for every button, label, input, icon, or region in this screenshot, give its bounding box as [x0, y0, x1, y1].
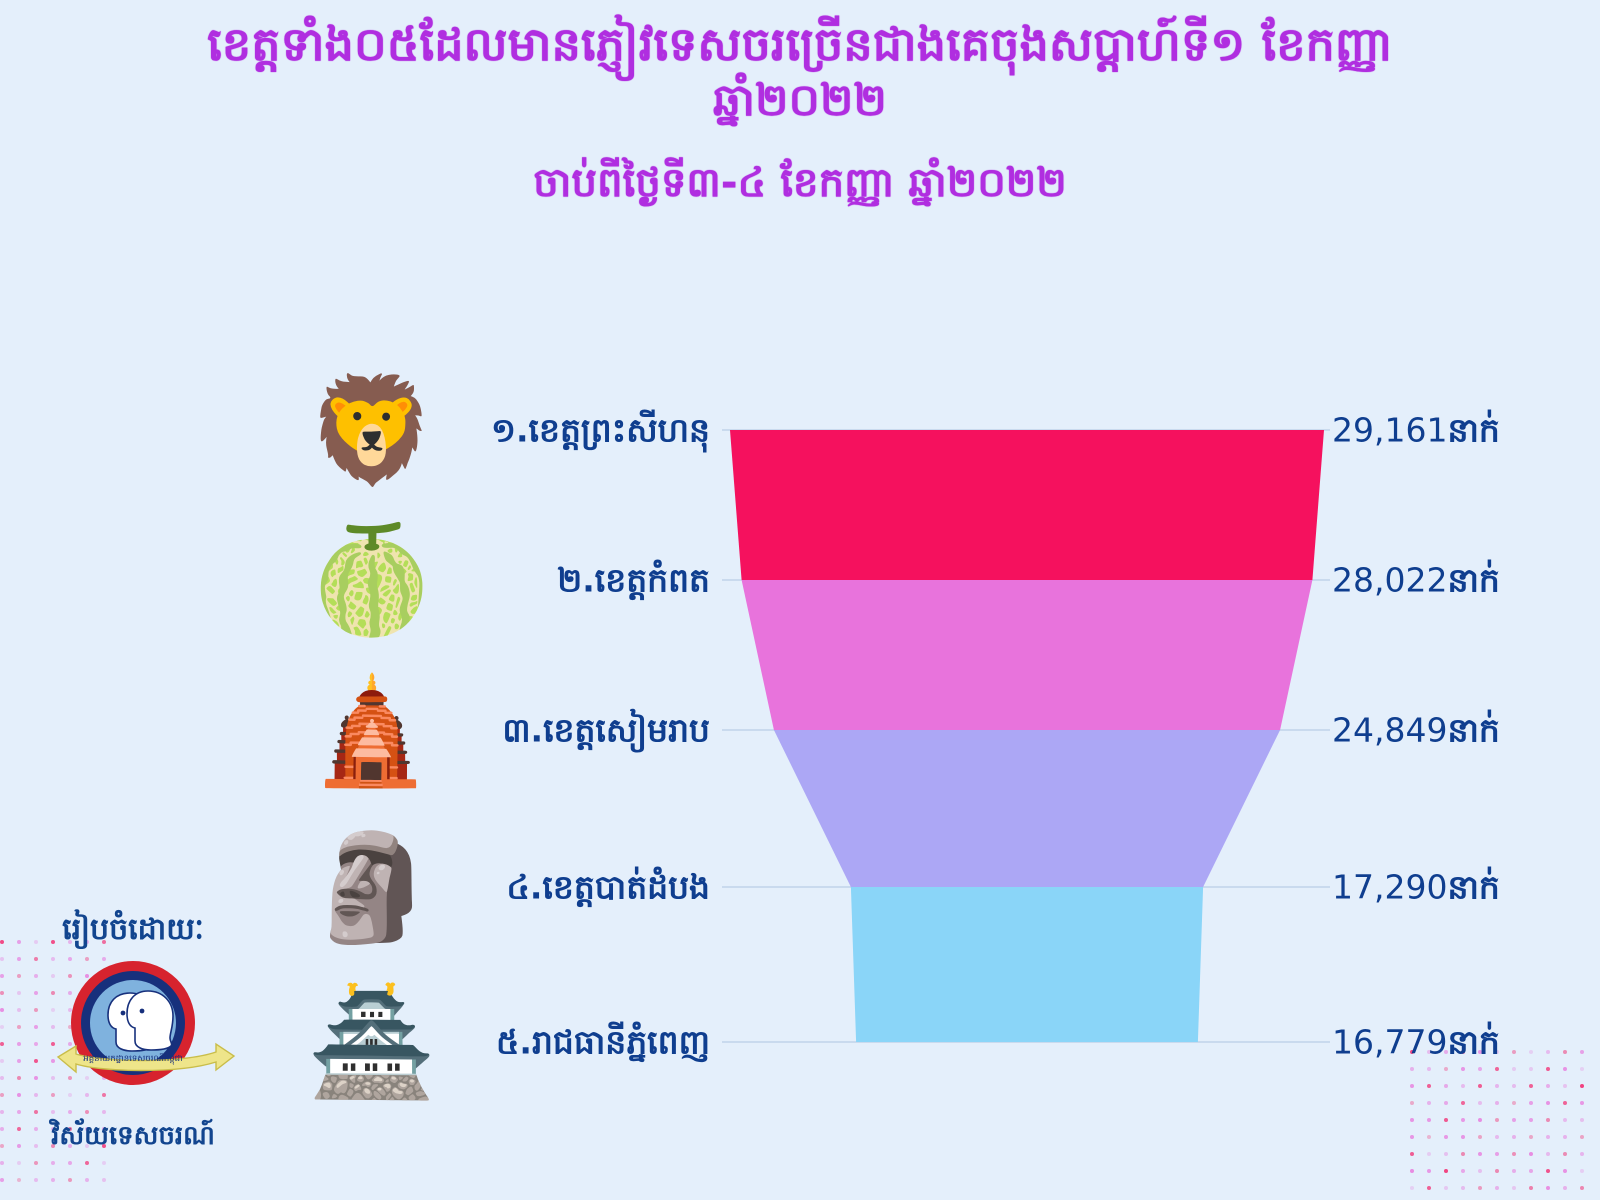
chart-row-value: 29,161នាក់: [1332, 414, 1582, 447]
header: ខេត្តទាំង០៥ដែលមានភ្ញៀវទេសចរច្រើនជាងគេចុង…: [0, 18, 1600, 207]
chart-row-value-number: 29,161: [1332, 411, 1447, 450]
chart-row-label: ៣.ខេត្តសៀមរាប: [420, 714, 710, 747]
chart-row-value: 24,849នាក់: [1332, 714, 1582, 747]
page-title: ខេត្តទាំង០៥ដែលមានភ្ញៀវទេសចរច្រើនជាងគេចុង…: [0, 18, 1600, 71]
page-subtitle-date-range: ចាប់ពីថ្ងៃទី៣-៤ ខែកញ្ញា ឆ្នាំ២០២២: [0, 160, 1600, 206]
chart-row-value: 28,022នាក់: [1332, 564, 1582, 597]
chart-row-value: 16,779នាក់: [1332, 1026, 1582, 1059]
chart-row-value-unit: នាក់: [1447, 1023, 1499, 1062]
funnel-segment: [742, 580, 1313, 730]
page-title-year: ឆ្នាំ២០២២: [0, 75, 1600, 126]
chart-row-label: ១.ខេត្តព្រះសីហនុ: [420, 414, 710, 447]
logo-faces-icon: [108, 991, 173, 1051]
chart-row-label: ៤.ខេត្តបាត់ដំបង: [420, 871, 710, 904]
chart-row-value-number: 16,779: [1332, 1023, 1447, 1062]
chart-row-value-unit: នាក់: [1447, 711, 1499, 750]
funnel-segment: [774, 730, 1280, 887]
logo-ribbon-text: អគ្គនាយកដ្ឋានទេសចរណ៍កម្ពុជា: [83, 1052, 182, 1065]
chart-row-value-number: 17,290: [1332, 868, 1447, 907]
chart-row-label: ២.ខេត្តកំពត: [420, 564, 710, 597]
funnel-segment: [730, 430, 1324, 580]
credit-caption: វិស័យទេសចរណ៍: [18, 1123, 248, 1149]
chart-row-value: 17,290នាក់: [1332, 871, 1582, 904]
organization-logo: អគ្គនាយកដ្ឋានទេសចរណ៍កម្ពុជា: [18, 951, 248, 1121]
chart-row-label: ៥.រាជធានីភ្នំពេញ: [420, 1026, 710, 1059]
credit-label: រៀបចំដោយៈ: [18, 915, 248, 945]
logo-icon: អគ្គនាយកដ្ឋានទេសចរណ៍កម្ពុជា: [18, 951, 248, 1121]
chart-row-value-number: 28,022: [1332, 561, 1447, 600]
chart-row-value-number: 24,849: [1332, 711, 1447, 750]
credit-block: រៀបចំដោយៈ អគ្គនាយកដ្ឋានទេសចរណ៍កម្ពុជា វិ…: [18, 915, 248, 1149]
chart-row-value-unit: នាក់: [1447, 868, 1499, 907]
chart-row-value-unit: នាក់: [1447, 561, 1499, 600]
chart-row-value-unit: នាក់: [1447, 411, 1499, 450]
funnel-segment: [851, 887, 1203, 1042]
